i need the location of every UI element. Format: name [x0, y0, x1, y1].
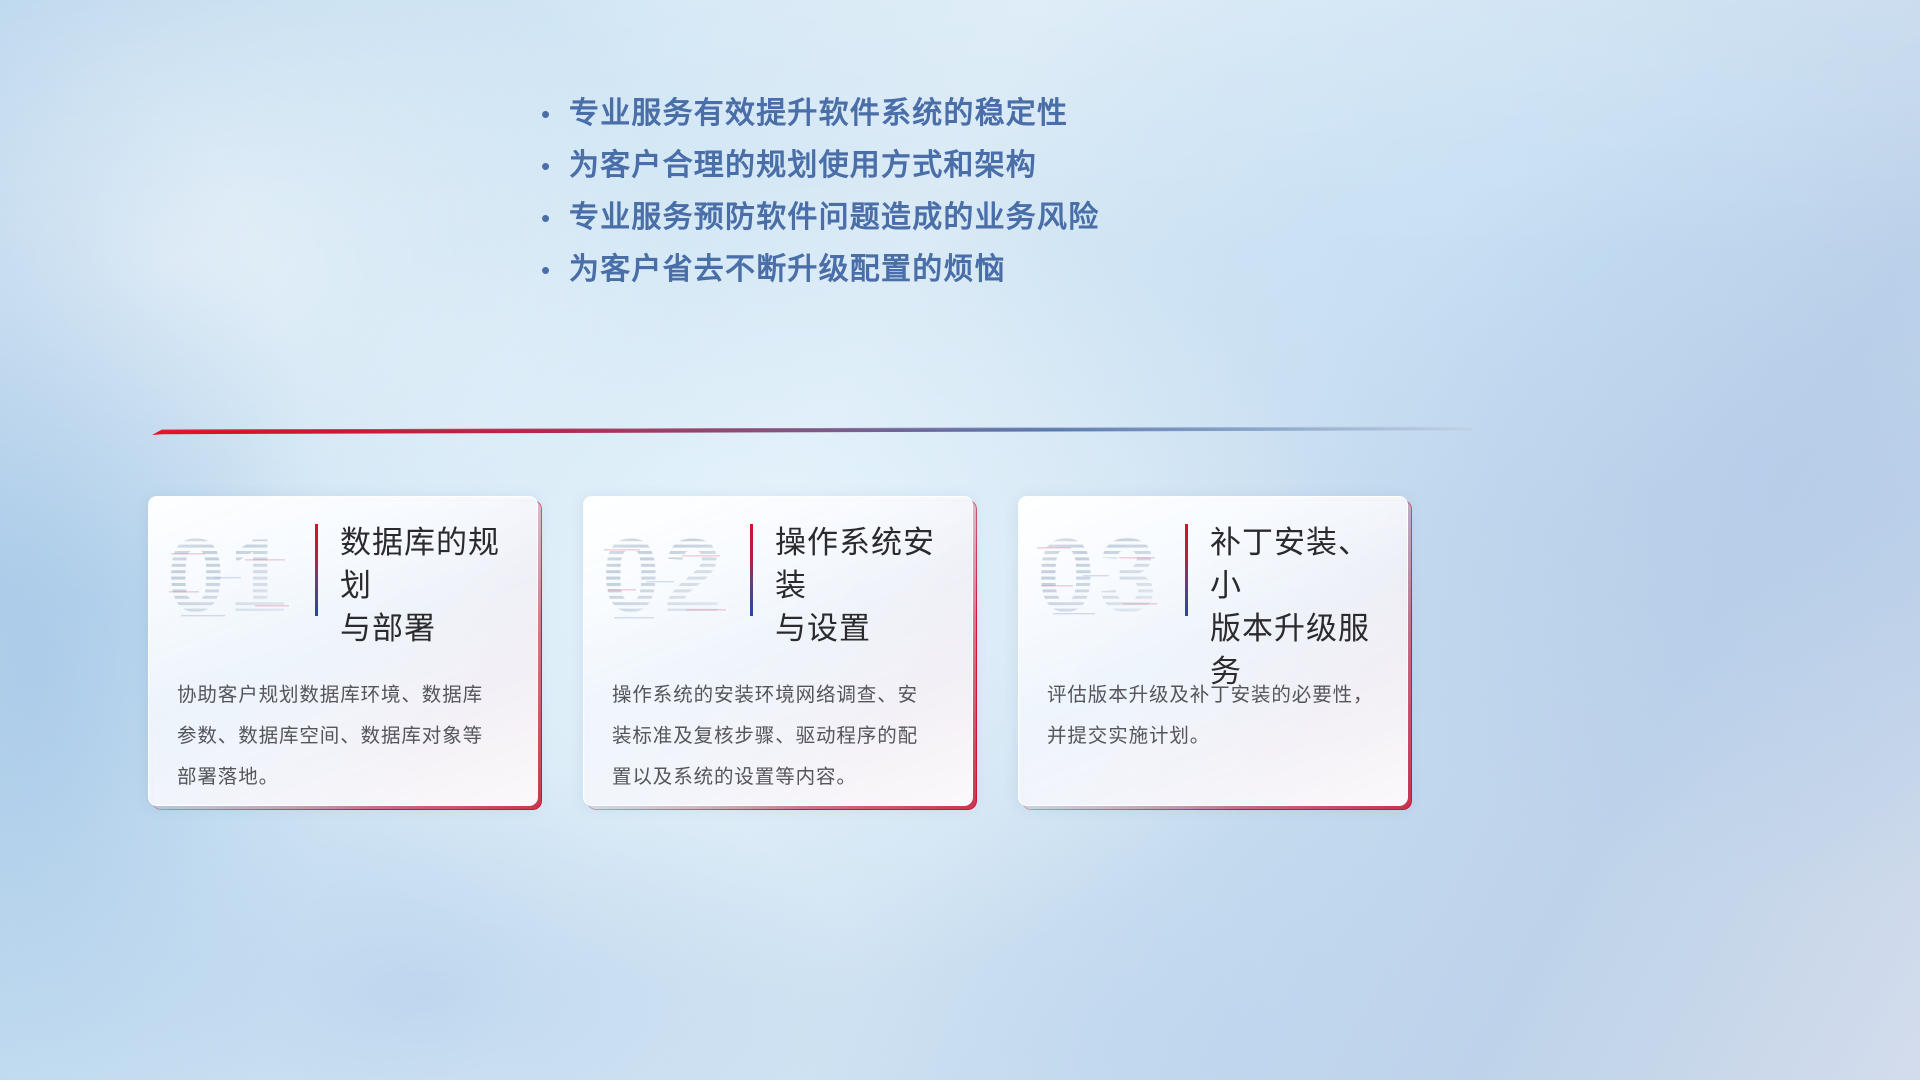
card-title-line: 补丁安装、小 — [1210, 521, 1397, 607]
svg-text:01: 01 — [167, 519, 291, 629]
striped-number-icon: 03 — [1033, 519, 1185, 629]
card-title-line: 与设置 — [775, 607, 962, 650]
list-item: • 为客户省去不断升级配置的烦恼 — [535, 244, 1295, 296]
bullet-text: 为客户省去不断升级配置的烦恼 — [569, 244, 1006, 296]
bullet-dot-icon: • — [535, 244, 569, 296]
card-description-line: 装标准及复核步骤、驱动程序的配 — [612, 716, 948, 757]
bullet-dot-icon: • — [535, 140, 569, 192]
card-description-line: 并提交实施计划。 — [1047, 716, 1383, 757]
bullet-text: 专业服务有效提升软件系统的稳定性 — [569, 88, 1068, 140]
card-description-line: 部署落地。 — [177, 757, 513, 798]
card-title: 数据库的规划 与部署 — [318, 521, 537, 650]
card-title-line: 与部署 — [340, 607, 527, 650]
card-description-line: 协助客户规划数据库环境、数据库 — [177, 675, 513, 716]
benefits-bullet-list: • 专业服务有效提升软件系统的稳定性 • 为客户合理的规划使用方式和架构 • 专… — [535, 88, 1295, 296]
bullet-text: 为客户合理的规划使用方式和架构 — [569, 140, 1037, 192]
card-title-line: 数据库的规划 — [340, 521, 527, 607]
card-description-line: 置以及系统的设置等内容。 — [612, 757, 948, 798]
card-header: 02 — [584, 519, 972, 629]
bullet-dot-icon: • — [535, 88, 569, 140]
card-title-line: 操作系统安装 — [775, 521, 962, 607]
service-card-list: 01 — [152, 500, 1412, 810]
card-surface: 03 — [1018, 496, 1408, 806]
striped-number-icon: 02 — [598, 519, 750, 629]
service-card[interactable]: 01 — [152, 500, 542, 810]
card-title: 补丁安装、小 版本升级服务 — [1188, 521, 1407, 693]
divider-line-icon — [152, 424, 1472, 438]
service-card[interactable]: 02 — [587, 500, 977, 810]
card-number-watermark: 01 — [163, 519, 315, 629]
card-surface: 01 — [148, 496, 538, 806]
card-description: 协助客户规划数据库环境、数据库 参数、数据库空间、数据库对象等 部署落地。 — [177, 675, 513, 798]
card-description-line: 操作系统的安装环境网络调查、安 — [612, 675, 948, 716]
card-header: 01 — [149, 519, 537, 629]
svg-text:03: 03 — [1037, 519, 1161, 629]
card-description: 评估版本升级及补丁安装的必要性， 并提交实施计划。 — [1047, 675, 1383, 757]
svg-text:02: 02 — [602, 519, 726, 629]
bullet-dot-icon: • — [535, 192, 569, 244]
list-item: • 为客户合理的规划使用方式和架构 — [535, 140, 1295, 192]
bullet-text: 专业服务预防软件问题造成的业务风险 — [569, 192, 1099, 244]
card-description-line: 评估版本升级及补丁安装的必要性， — [1047, 675, 1383, 716]
card-header: 03 — [1019, 519, 1407, 629]
card-number-watermark: 03 — [1033, 519, 1185, 629]
striped-number-icon: 01 — [163, 519, 315, 629]
list-item: • 专业服务预防软件问题造成的业务风险 — [535, 192, 1295, 244]
card-description-line: 参数、数据库空间、数据库对象等 — [177, 716, 513, 757]
section-divider — [152, 424, 1472, 437]
card-number-watermark: 02 — [598, 519, 750, 629]
service-card[interactable]: 03 — [1022, 500, 1412, 810]
card-description: 操作系统的安装环境网络调查、安 装标准及复核步骤、驱动程序的配 置以及系统的设置… — [612, 675, 948, 798]
card-title: 操作系统安装 与设置 — [753, 521, 972, 650]
list-item: • 专业服务有效提升软件系统的稳定性 — [535, 88, 1295, 140]
card-surface: 02 — [583, 496, 973, 806]
